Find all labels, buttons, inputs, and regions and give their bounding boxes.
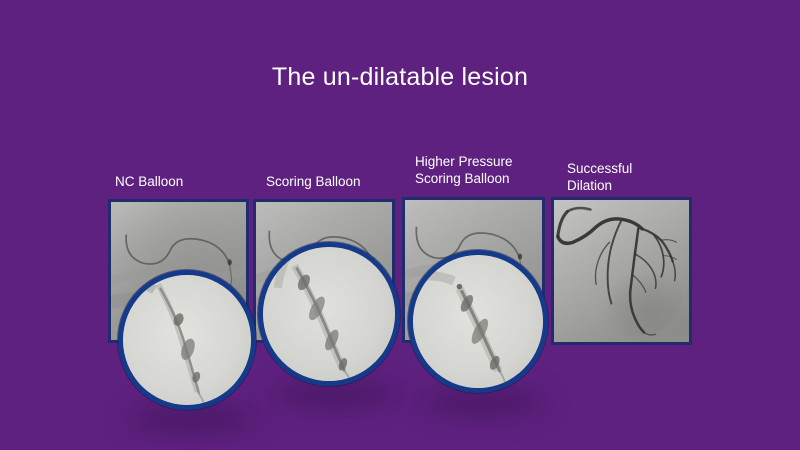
magnifier-content-3 bbox=[413, 255, 543, 388]
panel-label-higher-pressure-scoring-balloon: Higher Pressure Scoring Balloon bbox=[415, 153, 513, 187]
panel-label-successful-dilation: Successful Dilation bbox=[567, 160, 632, 194]
presentation-slide: The un-dilatable lesion NC Balloon Scori… bbox=[0, 0, 800, 450]
angiogram-panel-successful-dilation[interactable] bbox=[551, 197, 692, 345]
magnifier-circle-scoring-balloon[interactable] bbox=[258, 242, 400, 386]
magnifier-content-1 bbox=[123, 275, 251, 405]
coronary-angiogram-image bbox=[554, 200, 689, 342]
panel-label-nc-balloon: NC Balloon bbox=[115, 173, 183, 190]
magnifier-circle-nc-balloon[interactable] bbox=[118, 270, 256, 410]
magnifier-content-2 bbox=[263, 247, 395, 381]
page-title: The un-dilatable lesion bbox=[0, 62, 800, 92]
magnifier-circle-higher-pressure[interactable] bbox=[408, 250, 548, 393]
panel-label-scoring-balloon: Scoring Balloon bbox=[266, 173, 361, 190]
